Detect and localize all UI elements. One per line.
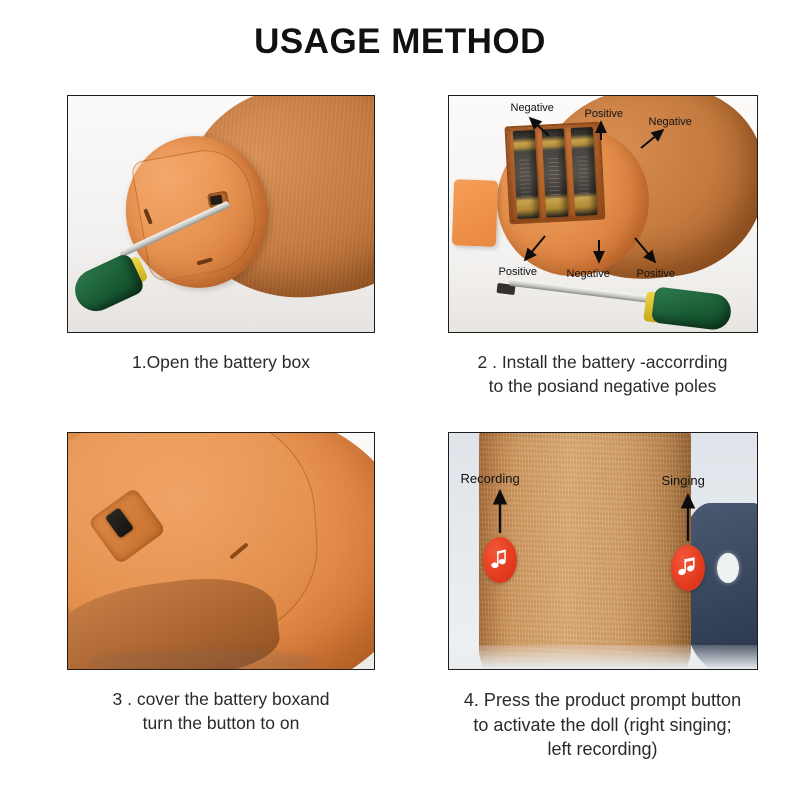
step-4-caption-line-1: 4. Press the product prompt button [423, 688, 783, 712]
annotation-bottom-negative-middle: Negative [567, 268, 610, 280]
step-2: Negative Positive Negative [400, 95, 800, 398]
step-4-caption-line-3: left recording) [423, 737, 783, 761]
step-3-caption: 3 . cover the battery boxand turn the bu… [41, 688, 401, 735]
step-3-caption-line-1: 3 . cover the battery boxand [41, 688, 401, 712]
photo-press-prompt-buttons: Recording Singing [448, 432, 758, 670]
step-4-caption: 4. Press the product prompt button to ac… [423, 688, 783, 761]
annotation-bottom-positive-left: Positive [499, 266, 538, 278]
step-3: 3 . cover the battery boxand turn the bu… [0, 432, 400, 761]
step-1-caption: 1.Open the battery box [41, 351, 401, 375]
photo-cover-and-switch [67, 432, 375, 670]
steps-row-2: 3 . cover the battery boxand turn the bu… [0, 432, 800, 761]
usage-method-page: USAGE METHOD [0, 0, 800, 800]
annotation-singing-label: Singing [662, 473, 705, 488]
drop-shadow [88, 649, 318, 670]
step-4: Recording Singing 4. Press the product p… [400, 432, 800, 761]
step-4-caption-line-2: to activate the doll (right singing; [423, 713, 783, 737]
step-1: 1.Open the battery box [0, 95, 400, 398]
steps-grid: 1.Open the battery box [0, 95, 800, 761]
polarity-arrows [449, 96, 758, 333]
annotation-bottom-positive-right: Positive [637, 268, 676, 280]
page-title: USAGE METHOD [0, 22, 800, 62]
step-2-caption: 2 . Install the battery -accorrding to t… [423, 351, 783, 398]
photo-open-battery-box [67, 95, 375, 333]
step-2-caption-line-1: 2 . Install the battery -accorrding [423, 351, 783, 375]
annotation-recording-label: Recording [461, 471, 520, 486]
step-2-caption-line-2: to the posiand negative poles [423, 375, 783, 399]
photo-install-batteries: Negative Positive Negative [448, 95, 758, 333]
step-3-caption-line-2: turn the button to on [41, 712, 401, 736]
steps-row-1: 1.Open the battery box [0, 95, 800, 398]
button-arrows [449, 433, 758, 670]
